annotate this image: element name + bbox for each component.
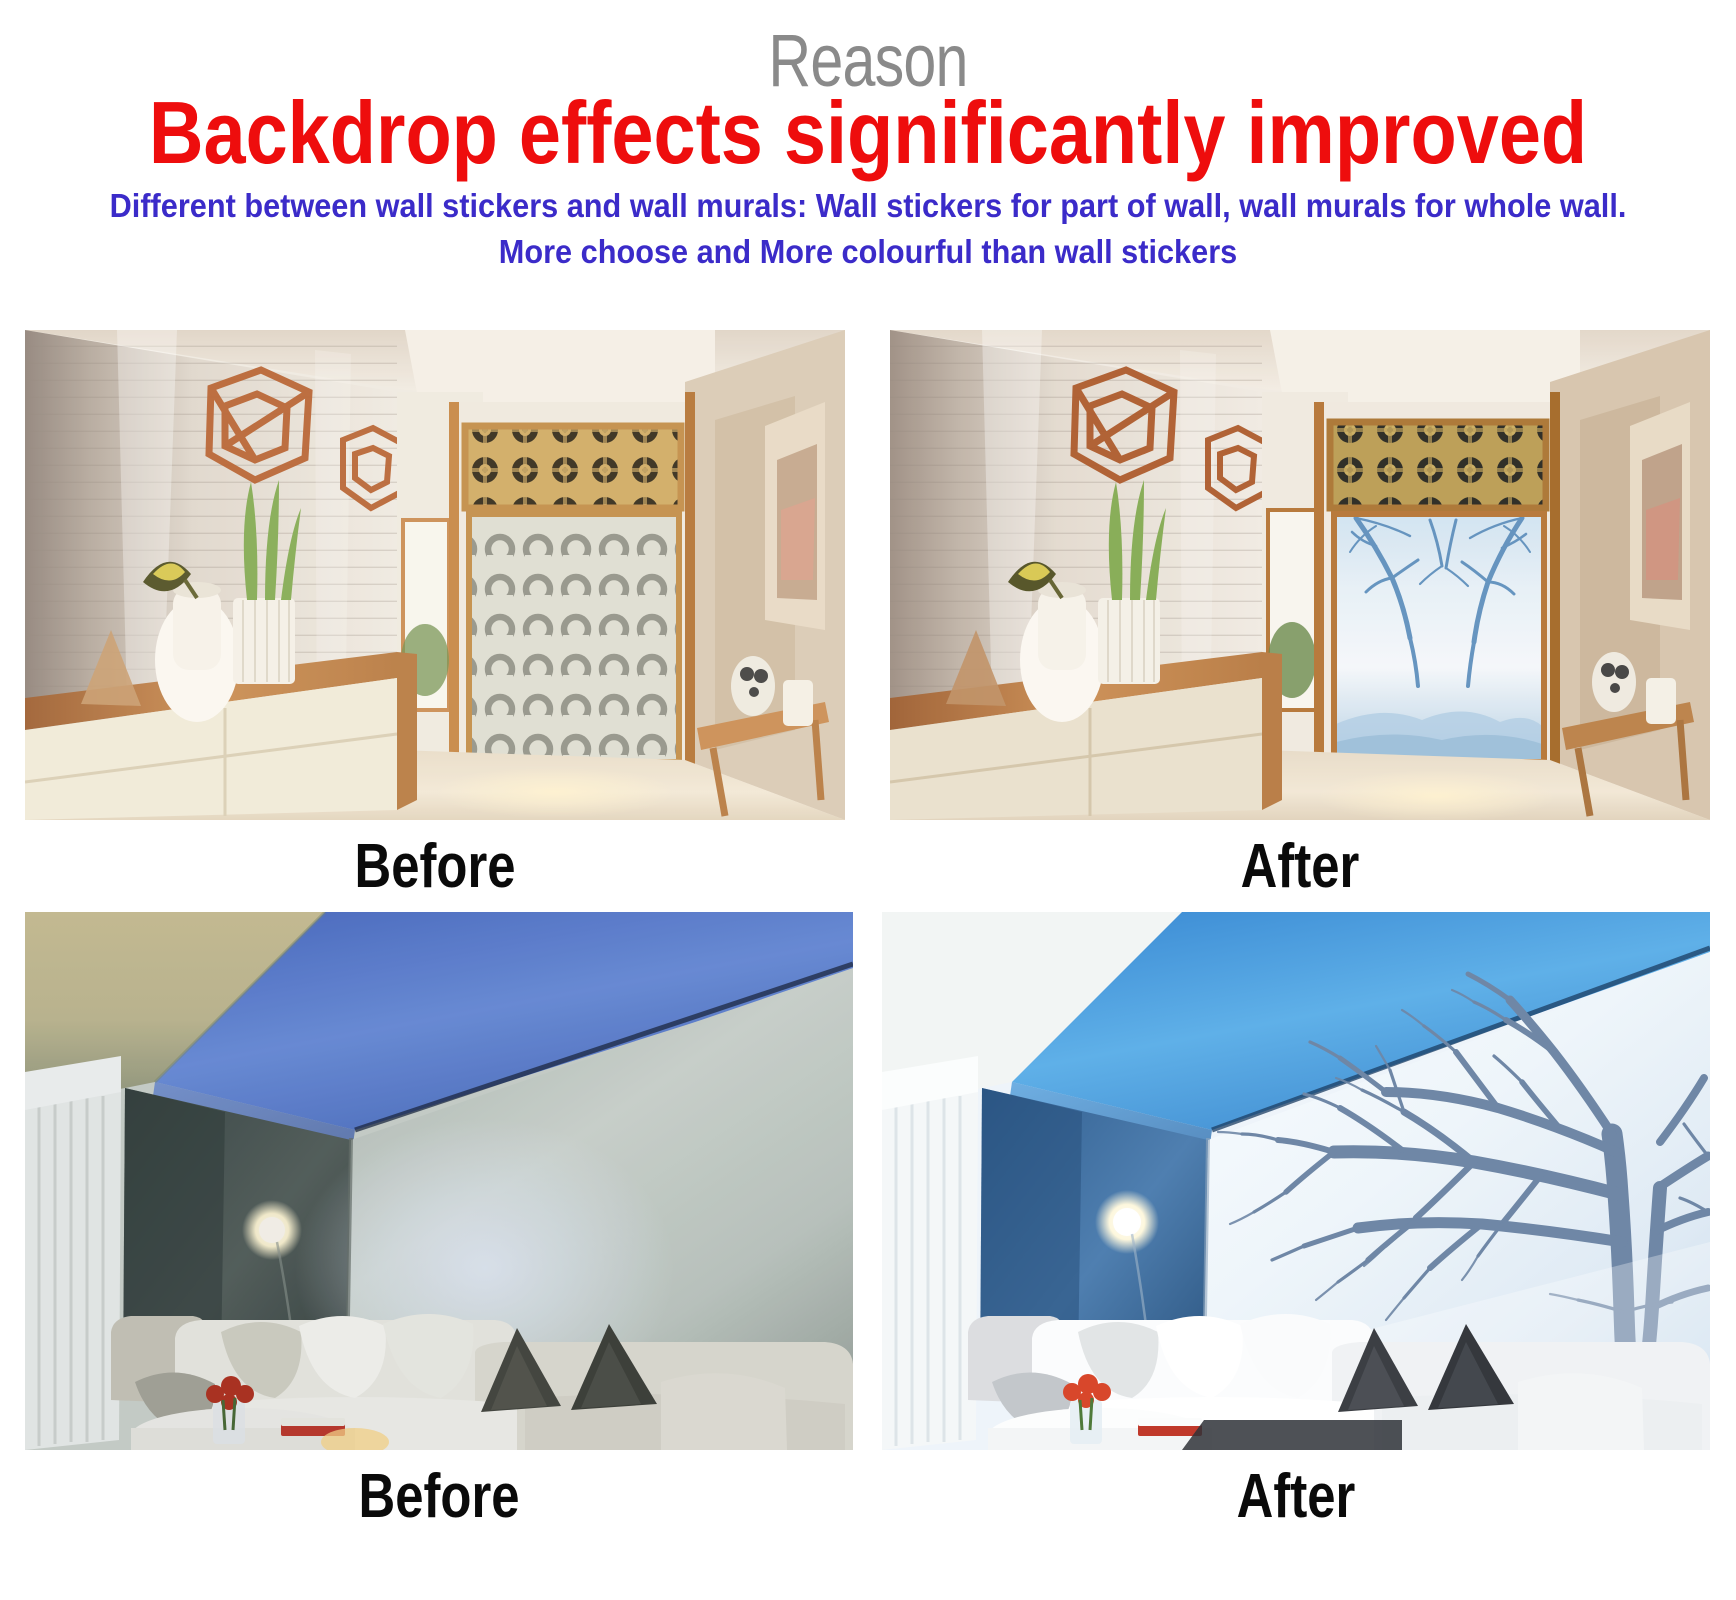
comparison-row-hallway: Before (25, 330, 1710, 898)
cell-livingroom-after: After (882, 912, 1710, 1528)
caption-hallway-before: Before (99, 820, 771, 898)
photo-hallway-after (890, 330, 1710, 820)
caption-hallway-after: After (964, 820, 1636, 898)
photo-hallway-before (25, 330, 845, 820)
cell-hallway-after: After (890, 330, 1710, 898)
comparison-grid: Before (0, 330, 1736, 1528)
photo-livingroom-before (25, 912, 853, 1450)
caption-livingroom-after: After (957, 1450, 1636, 1528)
subtitle-line-1: Different between wall stickers and wall… (61, 184, 1675, 228)
cell-hallway-before: Before (25, 330, 845, 898)
caption-livingroom-before: Before (100, 1450, 779, 1528)
comparison-row-livingroom: Before (25, 912, 1710, 1528)
cell-livingroom-before: Before (25, 912, 853, 1528)
page-title: Backdrop effects significantly improved (122, 90, 1615, 176)
header-block: Reason Backdrop effects significantly im… (0, 0, 1736, 273)
subtitle-line-2: More choose and More colourful than wall… (61, 230, 1675, 274)
photo-livingroom-after (882, 912, 1710, 1450)
